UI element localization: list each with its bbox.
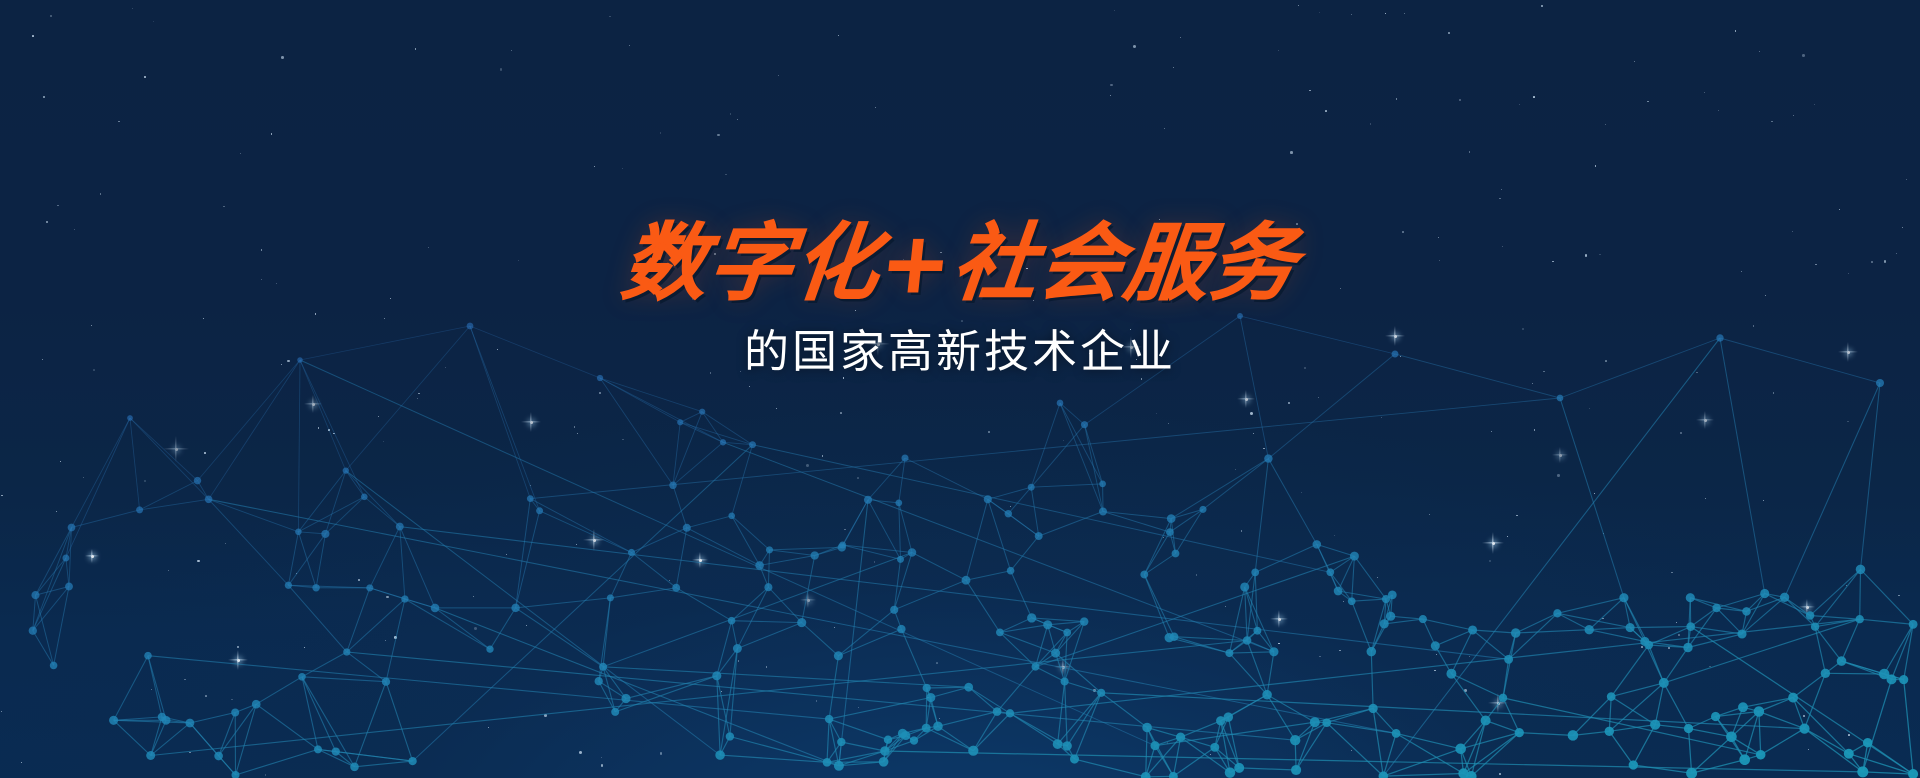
mesh-edge [1860,569,1861,619]
mesh-node [1650,720,1660,730]
mesh-node [1251,569,1259,577]
mesh-edge [72,418,131,528]
star-dot [1519,104,1520,105]
mesh-node [838,543,846,551]
mesh-edge [130,418,140,510]
mesh-node [1326,568,1334,576]
mesh-edge [753,445,1331,573]
mesh-node [669,482,677,490]
mesh-edge [1842,619,1860,661]
mesh-node [1382,595,1390,603]
mesh-node [214,752,223,761]
mesh-edge [969,687,1010,713]
mesh-node [1070,755,1079,764]
mesh-node [1760,589,1769,598]
mesh-edge [1759,698,1793,712]
mesh-edge [1010,619,1860,713]
mesh-node [1640,637,1649,646]
star-dot [1634,61,1635,62]
star-dot [1605,124,1607,126]
mesh-node [1557,395,1564,402]
mesh-node [712,671,721,680]
star-dot [415,48,417,50]
mesh-edge [1691,608,1717,627]
mesh-node [910,736,918,744]
mesh-node [1754,706,1765,717]
mesh-node [1780,593,1789,602]
mesh-node [897,625,905,633]
mesh-edge [1557,598,1624,614]
mesh-edge [1330,572,1351,601]
mesh-edge [1255,459,1268,573]
mesh-node [1350,552,1359,561]
mesh-edge [33,631,54,666]
mesh-node [231,708,239,716]
mesh-node [205,496,213,504]
mesh-node [755,561,764,570]
star-dot [281,56,284,59]
mesh-node [1166,528,1174,536]
mesh-node [396,523,404,531]
mesh-edge [1391,616,1423,619]
star-dot [660,132,662,134]
mesh-edge [1423,619,1473,630]
star-dot [1290,151,1293,154]
mesh-node [1035,532,1043,540]
mesh-edge [1785,597,1811,615]
star-dot [1595,165,1596,166]
mesh-node [864,496,872,504]
star-dot [1404,13,1405,14]
mesh-edge [770,550,815,556]
mesh-node [1821,669,1830,678]
mesh-edge [673,485,687,528]
mesh-edge [114,720,151,755]
mesh-node [715,750,725,760]
mesh-node [1585,625,1594,634]
mesh-edge [1383,733,1396,776]
mesh-node [1234,763,1244,773]
mesh-edge [1268,459,1316,545]
mesh-node [720,439,726,445]
star-dot [717,134,720,137]
mesh-node [361,493,368,500]
mesh-node [1856,615,1864,623]
mesh-edge [926,688,927,728]
mesh-edge [894,559,900,609]
mesh-edge [676,528,687,588]
mesh-node [536,507,543,514]
mesh-edge [1031,487,1039,536]
star-dot [1469,151,1471,153]
mesh-node [162,716,171,725]
mesh-node [1140,571,1148,579]
star-dot [1278,50,1279,51]
mesh-edge [1075,759,1146,777]
mesh-node [1051,649,1060,658]
mesh-edge [435,608,490,649]
mesh-edge [931,687,969,697]
star-dot [737,119,738,120]
mesh-edge [300,360,346,471]
mesh-node [408,757,416,765]
mesh-node [1264,454,1272,462]
mesh-edge [130,418,198,481]
mesh-edge [732,445,753,516]
star-dot [1735,30,1737,32]
mesh-node [332,747,340,755]
star-dot [1541,5,1543,7]
mesh-edge [209,499,299,532]
mesh-node [811,551,819,559]
mesh-edge [1785,383,1880,597]
mesh-edge [1759,712,1761,755]
mesh-edge [1435,630,1472,646]
mesh-node [1225,767,1236,778]
mesh-edge [1171,519,1175,554]
mesh-edge [1058,682,1065,745]
mesh-node [749,441,756,448]
mesh-node [1837,656,1847,666]
mesh-node [431,604,440,613]
mesh-node [672,584,680,592]
mesh-node [823,758,832,767]
polygonal-network-mesh [0,308,1920,778]
mesh-node [1348,597,1356,605]
mesh-node [366,584,373,591]
mesh-edge [1761,729,1805,755]
mesh-edge [1519,733,1573,736]
mesh-edge [151,717,162,756]
mesh-edge [1267,695,1315,723]
mesh-node [127,415,133,421]
mesh-edge [1861,383,1881,569]
mesh-edge [1075,693,1102,759]
mesh-node [1167,514,1176,523]
mesh-node [1909,620,1918,629]
star-dot [1906,179,1907,180]
mesh-edge [190,713,235,724]
mesh-node [1006,709,1014,717]
mesh-node [1756,750,1766,760]
mesh-edge [54,587,69,666]
mesh-edge [1743,698,1793,708]
mesh-node [677,419,683,425]
mesh-node [1857,766,1868,777]
mesh-node [1788,693,1798,703]
mesh-node [1419,615,1427,623]
mesh-node [1172,550,1180,558]
mesh-edge [298,360,300,532]
mesh-edge [516,511,540,608]
mesh-edge [1371,652,1373,709]
mesh-edge [603,667,969,687]
star-dot [1370,123,1372,125]
mesh-node [1844,749,1854,759]
mesh-edge [236,704,257,775]
mesh-node [252,700,261,709]
star-dot [1180,37,1181,38]
mesh-node [1887,674,1897,684]
mesh-edge [302,677,336,752]
mesh-edge [300,360,364,497]
star-dot [1793,115,1795,117]
mesh-edge [732,621,802,623]
mesh-edge [720,755,827,762]
star-dot [1459,99,1461,101]
mesh-edge [1609,731,1633,765]
mesh-node [1269,647,1278,656]
mesh-edge [737,623,801,649]
mesh-node [382,678,390,686]
mesh-edge [1267,652,1274,695]
mesh-node [314,745,322,753]
mesh-edge [490,608,516,649]
star-dot [1164,128,1165,129]
star-dot [622,168,623,169]
mesh-edge [1060,403,1103,512]
mesh-edge [1451,630,1472,674]
mesh-edge [1317,544,1355,556]
star-dot [57,205,58,206]
mesh-edge [1060,403,1085,425]
hero-banner: 数字化+社会服务 的国家高新技术企业 [0,0,1920,778]
mesh-node [1176,733,1185,742]
mesh-edge [1147,728,1173,777]
mesh-edge [1861,569,1914,624]
mesh-node [1481,715,1491,725]
mesh-node [922,724,931,733]
mesh-node [50,662,58,670]
mesh-node [1290,735,1300,745]
star-dot [1319,12,1320,13]
mesh-node [1005,510,1012,517]
star-dot [1771,121,1772,122]
mesh-edge [316,534,325,588]
hero-copy: 数字化+社会服务 的国家高新技术企业 [0,218,1920,376]
star-dot [271,133,273,135]
mesh-node [1863,738,1873,748]
mesh-node [908,548,917,557]
mesh-edge [1144,519,1171,575]
star-dot [1385,13,1386,14]
mesh-node [595,677,603,685]
mesh-node [1683,643,1692,652]
mesh-edge [346,471,365,497]
mesh-node [1334,587,1343,596]
star-dot [1501,189,1502,190]
mesh-edge [151,723,190,756]
mesh-node [1291,765,1301,775]
star-dot [1110,84,1113,87]
star-dot [1704,92,1705,93]
mesh-edge [400,527,1509,660]
mesh-edge [843,545,901,559]
mesh-edge [973,713,1010,750]
mesh-node [29,627,37,635]
mesh-edge [603,667,626,699]
mesh-node [1225,649,1233,657]
mesh-edge [1383,774,1463,777]
mesh-edge [1101,693,1804,729]
mesh-node [1739,754,1750,765]
mesh-edge [1747,597,1785,611]
mesh-node [825,715,833,723]
mesh-node [837,738,845,746]
mesh-node [1626,623,1635,632]
mesh-node [766,546,773,553]
star-dot [1110,95,1111,96]
mesh-node [1057,400,1064,407]
mesh-node [1392,729,1401,738]
mesh-edge [1255,572,1257,630]
star-dot [1133,45,1136,48]
mesh-node [1310,717,1320,727]
mesh-edge [1473,630,1509,659]
mesh-node [1899,675,1908,684]
mesh-node [683,524,691,532]
mesh-edge [302,677,386,682]
mesh-edge [1717,608,1742,634]
mesh-node [1210,743,1219,752]
mesh-node [343,648,350,655]
mesh-node [1908,769,1918,778]
mesh-edge [988,499,1039,536]
mesh-edge [1633,765,1691,773]
mesh-node [1142,723,1152,733]
mesh-edge [219,713,236,757]
mesh-node [1856,565,1866,575]
mesh-edge [33,528,72,631]
mesh-node [1027,613,1036,622]
mesh-edge [1181,737,1215,747]
mesh-node [1607,692,1616,701]
mesh-edge [1573,731,1609,735]
mesh-node [1313,540,1322,549]
mesh-node [144,652,152,660]
mesh-node [926,693,935,702]
mesh-node [194,477,201,484]
mesh-node [1468,625,1477,634]
mesh-node [611,708,619,716]
mesh-node [1368,704,1377,713]
mesh-node [897,556,904,563]
mesh-edge [760,556,815,566]
mesh-edge [298,471,345,532]
mesh-node [993,707,1002,716]
mesh-node [1737,629,1746,638]
mesh-node [1367,647,1377,657]
mesh-edge [1810,569,1860,615]
star-dot [1759,51,1760,52]
mesh-node [1568,730,1579,741]
star-dot [1325,110,1327,112]
mesh-node [285,582,292,589]
mesh-node [1322,718,1331,727]
mesh-edge [1664,648,1688,683]
page-title: 数字化+社会服务 [0,218,1920,309]
mesh-node [1386,612,1395,621]
star-dot [43,96,45,98]
mesh-edge [364,497,400,527]
star-dot [778,75,779,76]
mesh-node [1742,607,1751,616]
mesh-edge [530,398,1560,499]
mesh-node [1629,760,1638,769]
mesh-node [628,549,635,556]
mesh-edge [912,553,966,581]
mesh-edge [1516,630,1590,633]
mesh-edge [717,649,738,676]
mesh-node [1726,731,1737,742]
mesh-edge [347,599,405,652]
mesh-node [1738,702,1748,712]
star-dot [32,35,34,37]
mesh-edge [148,656,166,721]
star-dot [730,113,732,115]
mesh-edge [1031,403,1060,487]
star-dot [500,68,502,70]
mesh-edge [1352,599,1386,601]
mesh-node [136,506,143,513]
mesh-edge [1203,459,1268,510]
star-dot [1396,98,1397,99]
mesh-edge [347,588,370,652]
mesh-edge [516,499,531,608]
mesh-node [31,591,39,599]
mesh-node [834,651,843,660]
mesh-node [901,454,908,461]
mesh-node [1262,690,1272,700]
mesh-edge [1860,619,1913,624]
mesh-node [298,673,306,681]
mesh-node [1097,689,1105,697]
star-dot [1499,198,1501,200]
mesh-edge [938,712,997,727]
mesh-node [1216,716,1225,725]
mesh-node [1684,724,1693,733]
star-dot [838,35,839,36]
star-dot [725,174,727,176]
mesh-edge [610,553,631,598]
mesh-node [1007,567,1015,575]
mesh-node [1043,620,1052,629]
mesh-edge [1863,679,1892,772]
mesh-edge [687,516,732,528]
star-dot [1448,32,1450,34]
mesh-edge [1008,487,1031,514]
mesh-node [621,694,630,703]
mesh-node [1511,628,1520,637]
star-dot [1802,54,1805,57]
mesh-edge [885,751,1863,772]
mesh-node [295,529,302,536]
mesh-edge [1689,729,1692,774]
star-dot [1309,90,1311,92]
mesh-edge [209,360,300,499]
mesh-edge [198,360,301,481]
mesh-edge [1144,532,1170,574]
mesh-node [1063,741,1072,750]
mesh-edge [1173,747,1214,776]
mesh-edge [717,621,732,676]
mesh-edge [516,598,611,608]
mesh-edge [1229,652,1274,653]
mesh-edge [730,737,827,763]
mesh-edge [966,580,1000,632]
mesh-node [1659,678,1669,688]
mesh-edge [151,720,166,755]
